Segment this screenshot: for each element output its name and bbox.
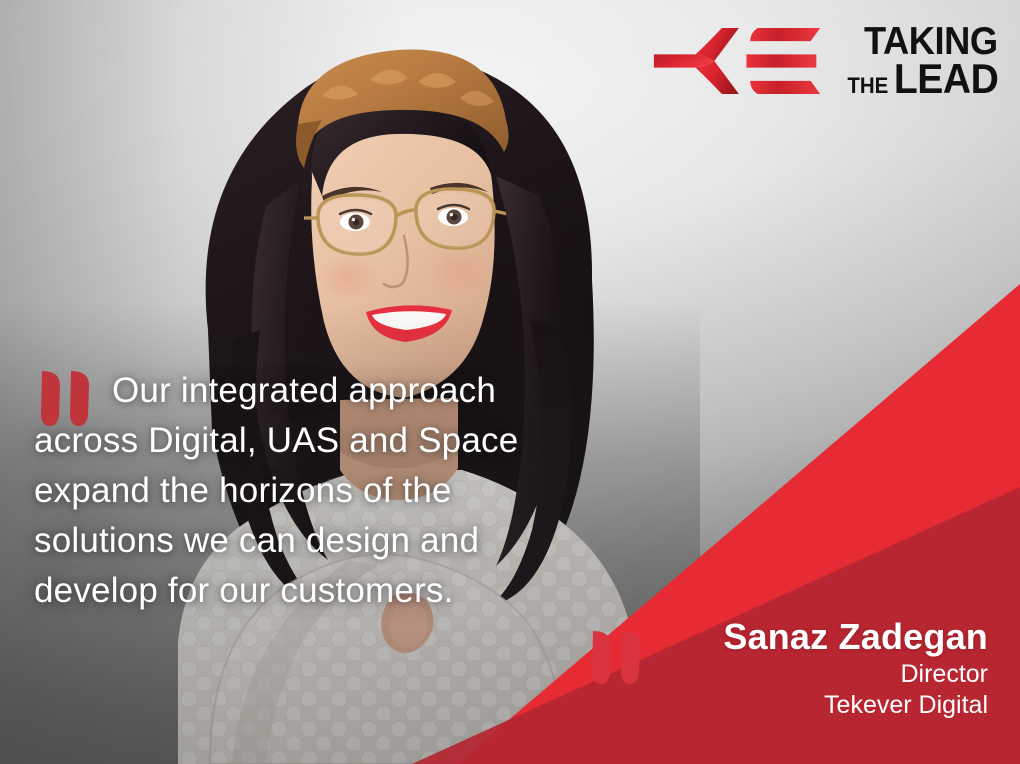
quote-line-5: develop for our customers. xyxy=(34,566,634,616)
tagline-lead: LEAD xyxy=(894,60,998,99)
quote-card: TAKING THE LEAD Our integrated approach … xyxy=(0,0,1020,764)
quote-line-1: Our integrated approach xyxy=(34,366,634,416)
open-quote-mark xyxy=(38,368,100,430)
tekever-arrow-mark xyxy=(652,25,822,97)
quote-line-4: solutions we can design and xyxy=(34,516,634,566)
quote-line-2: across Digital, UAS and Space xyxy=(34,416,634,466)
quote-text: Our integrated approach across Digital, … xyxy=(34,366,634,616)
close-quote-mark xyxy=(590,628,650,688)
speaker-role: Director xyxy=(723,659,988,690)
attribution-block: Sanaz Zadegan Director Tekever Digital xyxy=(723,617,988,720)
brand-tagline: TAKING THE LEAD xyxy=(836,24,998,99)
speaker-organization: Tekever Digital xyxy=(723,690,988,721)
tagline-the: THE xyxy=(847,76,888,96)
quote-block: Our integrated approach across Digital, … xyxy=(34,366,634,616)
quote-line-3: expand the horizons of the xyxy=(34,466,634,516)
speaker-name: Sanaz Zadegan xyxy=(723,617,988,657)
brand-logo: TAKING THE LEAD xyxy=(652,24,998,99)
